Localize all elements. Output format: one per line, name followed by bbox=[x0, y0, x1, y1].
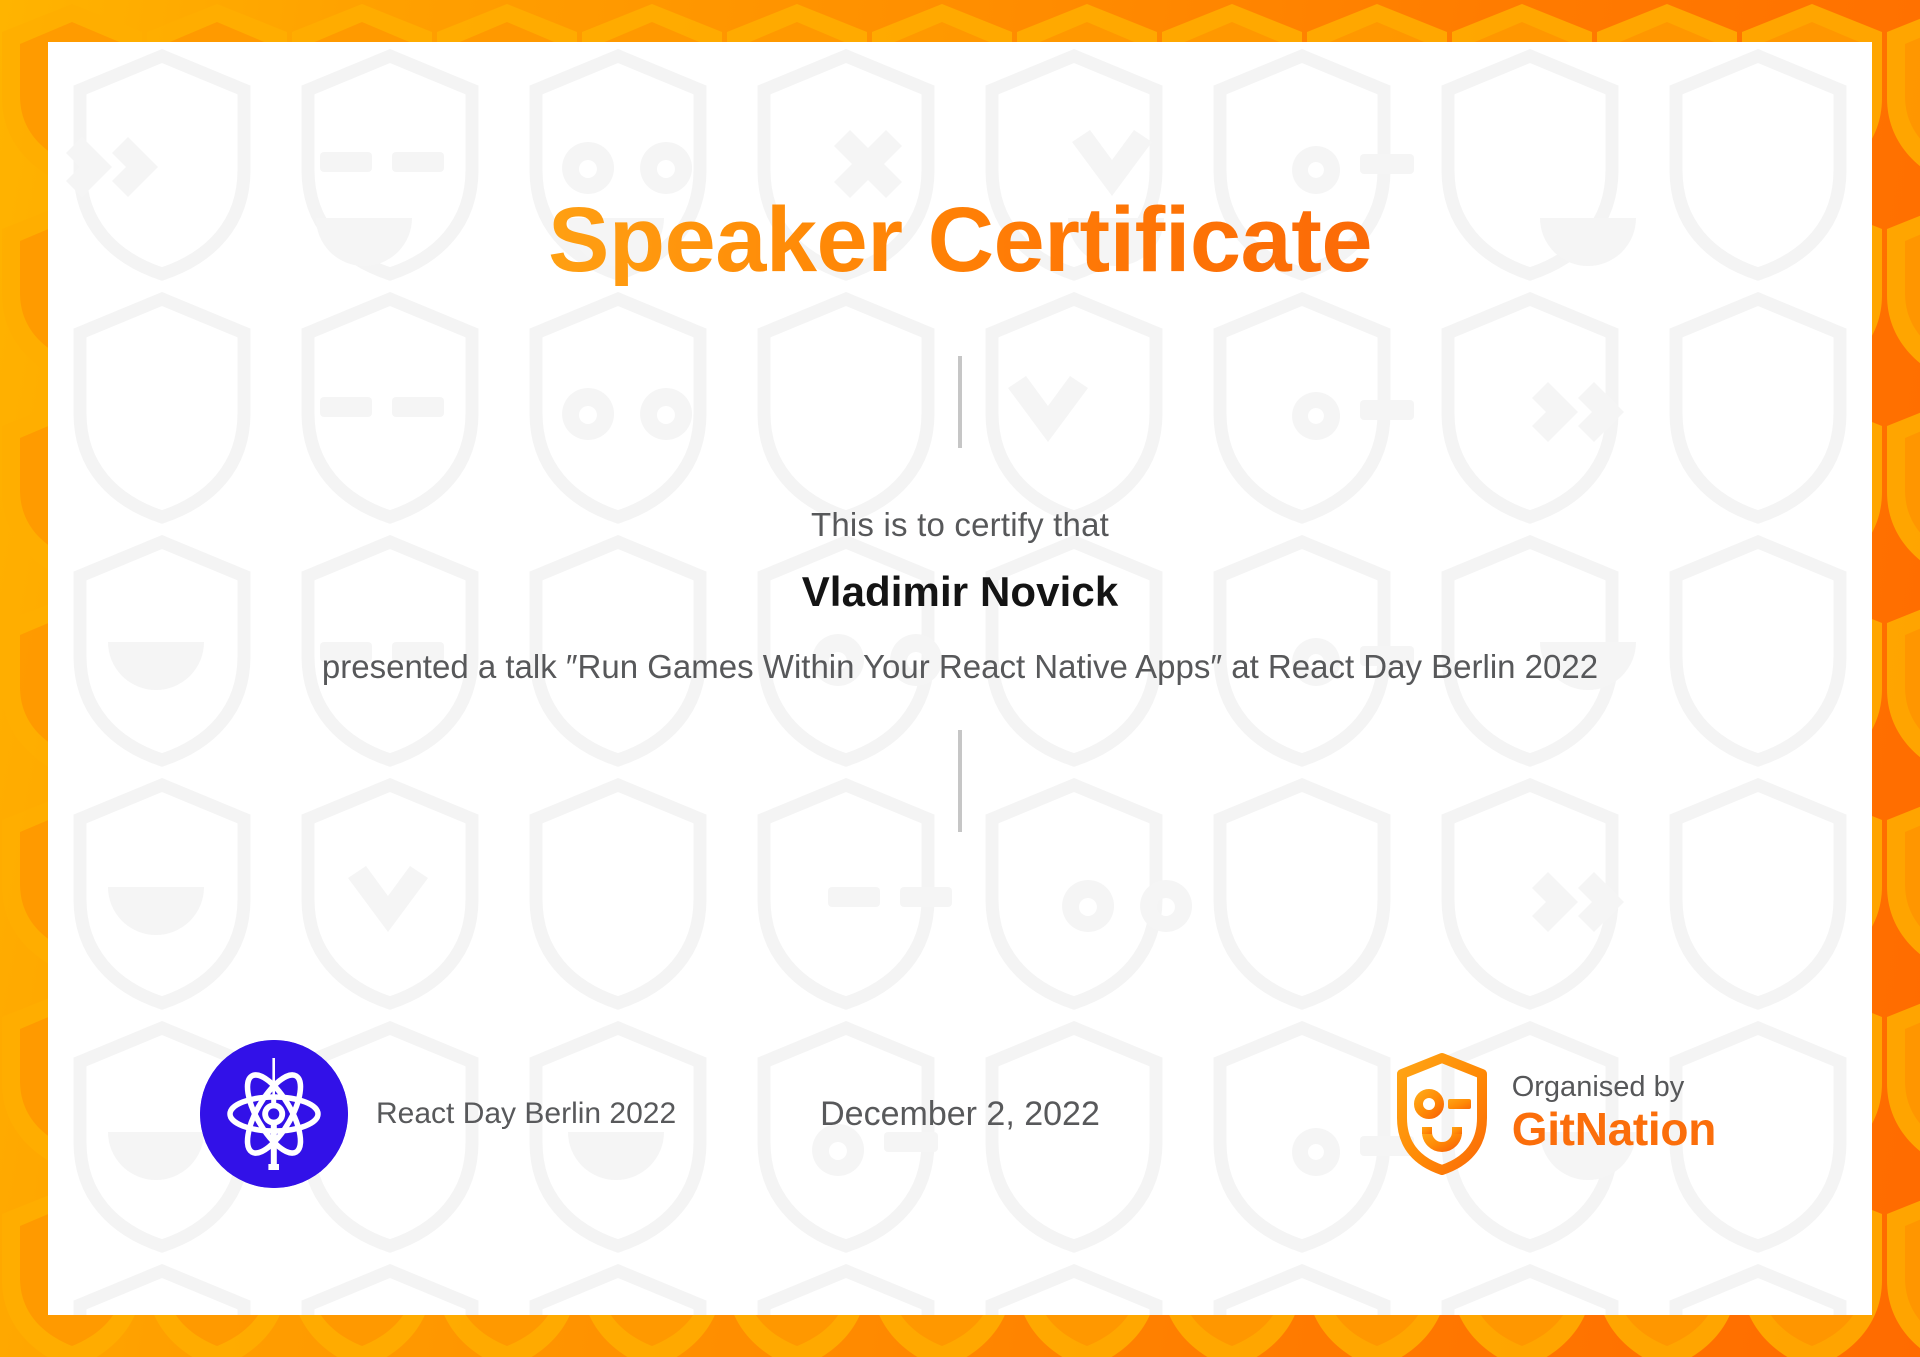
event-branding: React Day Berlin 2022 bbox=[200, 1040, 676, 1188]
organiser-name: GitNation bbox=[1512, 1104, 1716, 1156]
certify-statement: This is to certify that bbox=[811, 506, 1109, 544]
gitnation-shield-mask-icon bbox=[1394, 1052, 1490, 1176]
certificate-content: Speaker Certificate This is to certify t… bbox=[48, 42, 1872, 1315]
certificate-panel: Speaker Certificate This is to certify t… bbox=[48, 42, 1872, 1315]
divider-bottom bbox=[958, 730, 962, 832]
organiser-text-block: Organised by GitNation bbox=[1512, 1072, 1716, 1155]
divider-top bbox=[958, 356, 962, 448]
achievement-statement: presented a talk ″Run Games Within Your … bbox=[205, 646, 1715, 688]
event-name-label: React Day Berlin 2022 bbox=[376, 1097, 676, 1131]
certificate-footer: React Day Berlin 2022 December 2, 2022 bbox=[48, 1039, 1872, 1189]
react-day-berlin-logo-icon bbox=[200, 1040, 348, 1188]
issue-date: December 2, 2022 bbox=[820, 1095, 1100, 1134]
organiser-branding: Organised by GitNation bbox=[1394, 1052, 1716, 1176]
recipient-name: Vladimir Novick bbox=[802, 568, 1119, 616]
certificate-page: Speaker Certificate This is to certify t… bbox=[0, 0, 1920, 1357]
organised-by-label: Organised by bbox=[1512, 1072, 1716, 1104]
page-title: Speaker Certificate bbox=[548, 194, 1372, 286]
